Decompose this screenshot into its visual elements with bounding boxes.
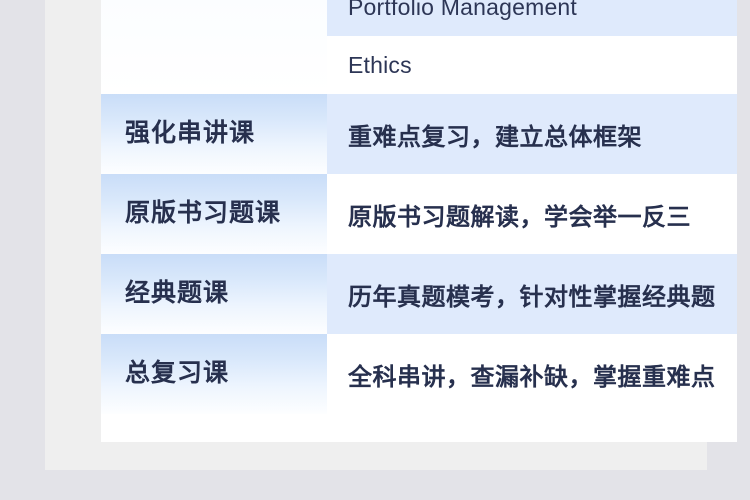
subject-cell-portfolio-management: Portfolio Management [327,0,737,36]
subject-group-left-cell [101,0,327,94]
subject-group-row: Portfolio Management Ethics [101,0,737,94]
course-description-cell: 历年真题模考，针对性掌握经典题 [327,254,737,334]
table-row: 强化串讲课 重难点复习，建立总体框架 [101,94,737,174]
table-row: 原版书习题课 原版书习题解读，学会举一反三 [101,174,737,254]
course-description-label: 历年真题模考，针对性掌握经典题 [348,277,716,312]
course-name-label: 总复习课 [125,360,229,388]
course-description-label: 重难点复习，建立总体框架 [348,117,642,152]
content-panel: Portfolio Management Ethics 强化串讲课 重难点复习，… [45,0,707,470]
course-description-cell: 原版书习题解读，学会举一反三 [327,174,737,254]
course-name-cell: 总复习课 [101,334,327,414]
course-name-label: 原版书习题课 [125,200,281,228]
subject-list: Portfolio Management Ethics [327,0,737,94]
course-name-cell: 原版书习题课 [101,174,327,254]
course-name-cell: 强化串讲课 [101,94,327,174]
course-name-cell: 经典题课 [101,254,327,334]
course-name-label: 经典题课 [125,280,229,308]
table-row: 总复习课 全科串讲，查漏补缺，掌握重难点 [101,334,737,414]
course-description-cell: 重难点复习，建立总体框架 [327,94,737,174]
course-description-label: 全科串讲，查漏补缺，掌握重难点 [348,357,716,392]
course-description-label: 原版书习题解读，学会举一反三 [348,197,691,232]
page-root: Portfolio Management Ethics 强化串讲课 重难点复习，… [0,0,750,500]
course-description-cell: 全科串讲，查漏补缺，掌握重难点 [327,334,737,414]
subject-cell-ethics: Ethics [327,36,737,94]
course-table: Portfolio Management Ethics 强化串讲课 重难点复习，… [101,0,737,442]
course-name-label: 强化串讲课 [125,120,255,148]
table-row: 经典题课 历年真题模考，针对性掌握经典题 [101,254,737,334]
